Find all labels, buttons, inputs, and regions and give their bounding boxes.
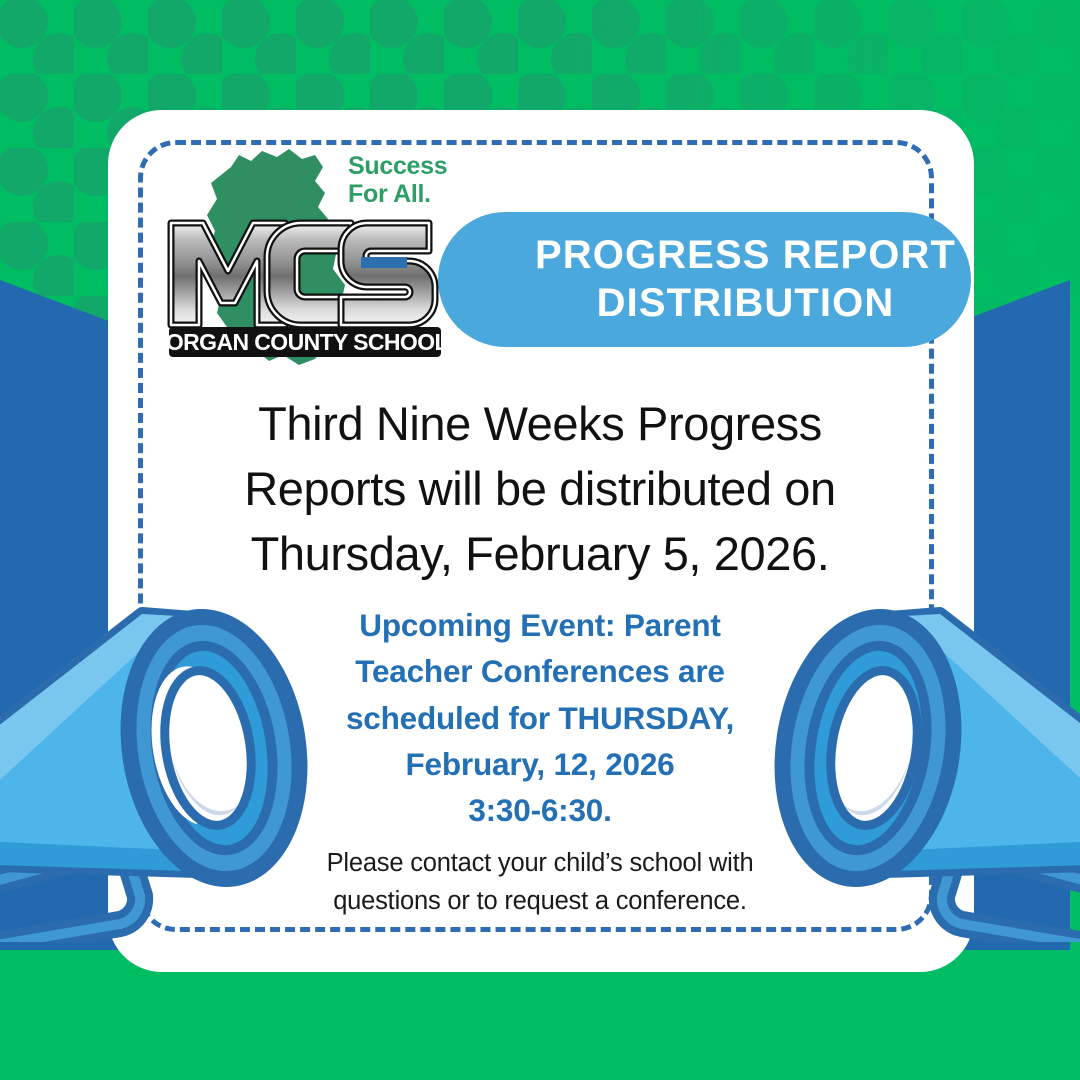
footnote-line-2: questions or to request a conference. bbox=[255, 883, 825, 921]
event-notice-line-3: scheduled for THURSDAY, bbox=[290, 695, 790, 741]
header: MORGAN COUNTY SCHOOLS Success For All. P… bbox=[108, 140, 974, 370]
headline-line-1: Third Nine Weeks Progress bbox=[180, 392, 900, 457]
event-notice-line-1: Upcoming Event: Parent bbox=[290, 602, 790, 648]
banner-line-1: PROGRESS REPORT bbox=[535, 232, 956, 279]
tagline-line-1: Success bbox=[348, 152, 478, 180]
tagline-line-2: For All. bbox=[348, 180, 478, 208]
event-notice: Upcoming Event: Parent Teacher Conferenc… bbox=[290, 602, 790, 833]
megaphone-right-icon bbox=[760, 552, 1080, 942]
banner-line-2: DISTRIBUTION bbox=[535, 280, 956, 327]
event-notice-line-4: February, 12, 2026 bbox=[290, 741, 790, 787]
headline-line-2: Reports will be distributed on bbox=[180, 457, 900, 522]
logo-tagline: Success For All. bbox=[348, 152, 478, 208]
event-notice-line-2: Teacher Conferences are bbox=[290, 648, 790, 694]
megaphone-left-icon bbox=[0, 552, 322, 942]
footnote: Please contact your child’s school with … bbox=[255, 845, 825, 920]
title-banner: PROGRESS REPORT DISTRIBUTION bbox=[438, 212, 971, 347]
title-banner-text: PROGRESS REPORT DISTRIBUTION bbox=[439, 232, 970, 326]
logo-wordmark: MORGAN COUNTY SCHOOLS bbox=[165, 327, 455, 357]
logo-wordmark-text: MORGAN COUNTY SCHOOLS bbox=[165, 329, 455, 355]
flyer-canvas: MORGAN COUNTY SCHOOLS Success For All. P… bbox=[0, 0, 1080, 1080]
event-notice-line-5: 3:30-6:30. bbox=[290, 787, 790, 833]
footnote-line-1: Please contact your child’s school with bbox=[255, 845, 825, 883]
